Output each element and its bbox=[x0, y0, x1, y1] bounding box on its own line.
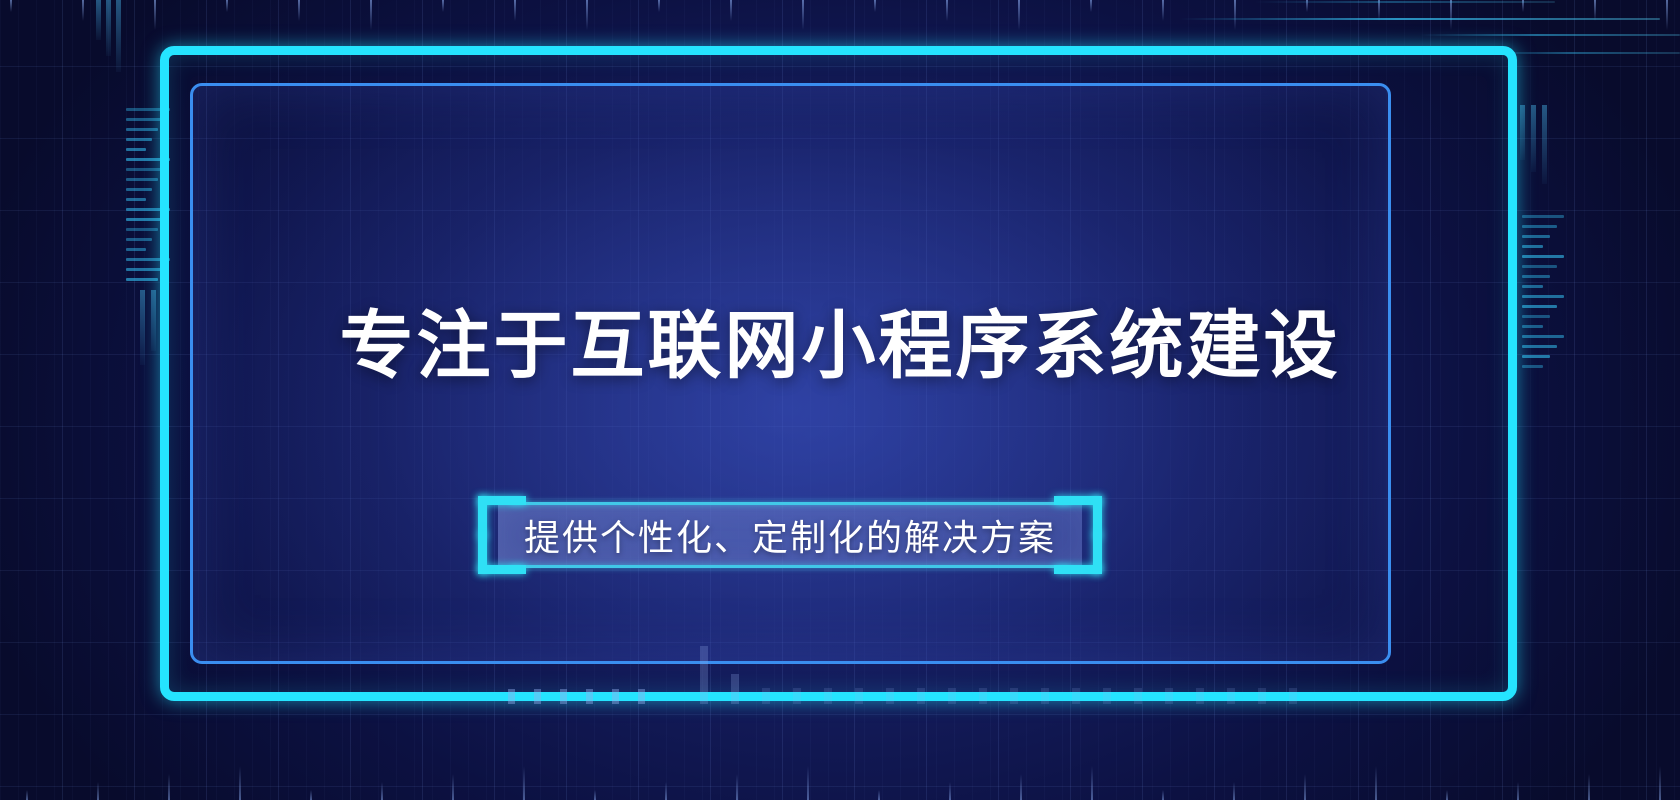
left-vertical-bars bbox=[96, 0, 126, 70]
bottom-tick-row bbox=[0, 764, 1680, 800]
glow-streak-icon bbox=[1180, 18, 1660, 20]
right-vertical-bars bbox=[1520, 105, 1550, 195]
bracket-bottom-right-icon bbox=[1093, 532, 1102, 574]
hero-banner: 专注于互联网小程序系统建设 提供个性化、定制化的解决方案 bbox=[0, 0, 1680, 800]
bottom-dash-row bbox=[508, 688, 668, 704]
bracket-bottom-left-icon bbox=[478, 532, 487, 574]
glow-streak-icon bbox=[1255, 1, 1555, 3]
page-subtitle: 提供个性化、定制化的解决方案 bbox=[498, 504, 1082, 566]
top-tick-row bbox=[0, 0, 1680, 34]
bottom-mini-bars bbox=[700, 644, 1320, 704]
glow-streak-icon bbox=[1420, 34, 1680, 36]
page-title: 专注于互联网小程序系统建设 bbox=[0, 286, 1680, 393]
subtitle-panel: 提供个性化、定制化的解决方案 bbox=[466, 466, 1114, 576]
